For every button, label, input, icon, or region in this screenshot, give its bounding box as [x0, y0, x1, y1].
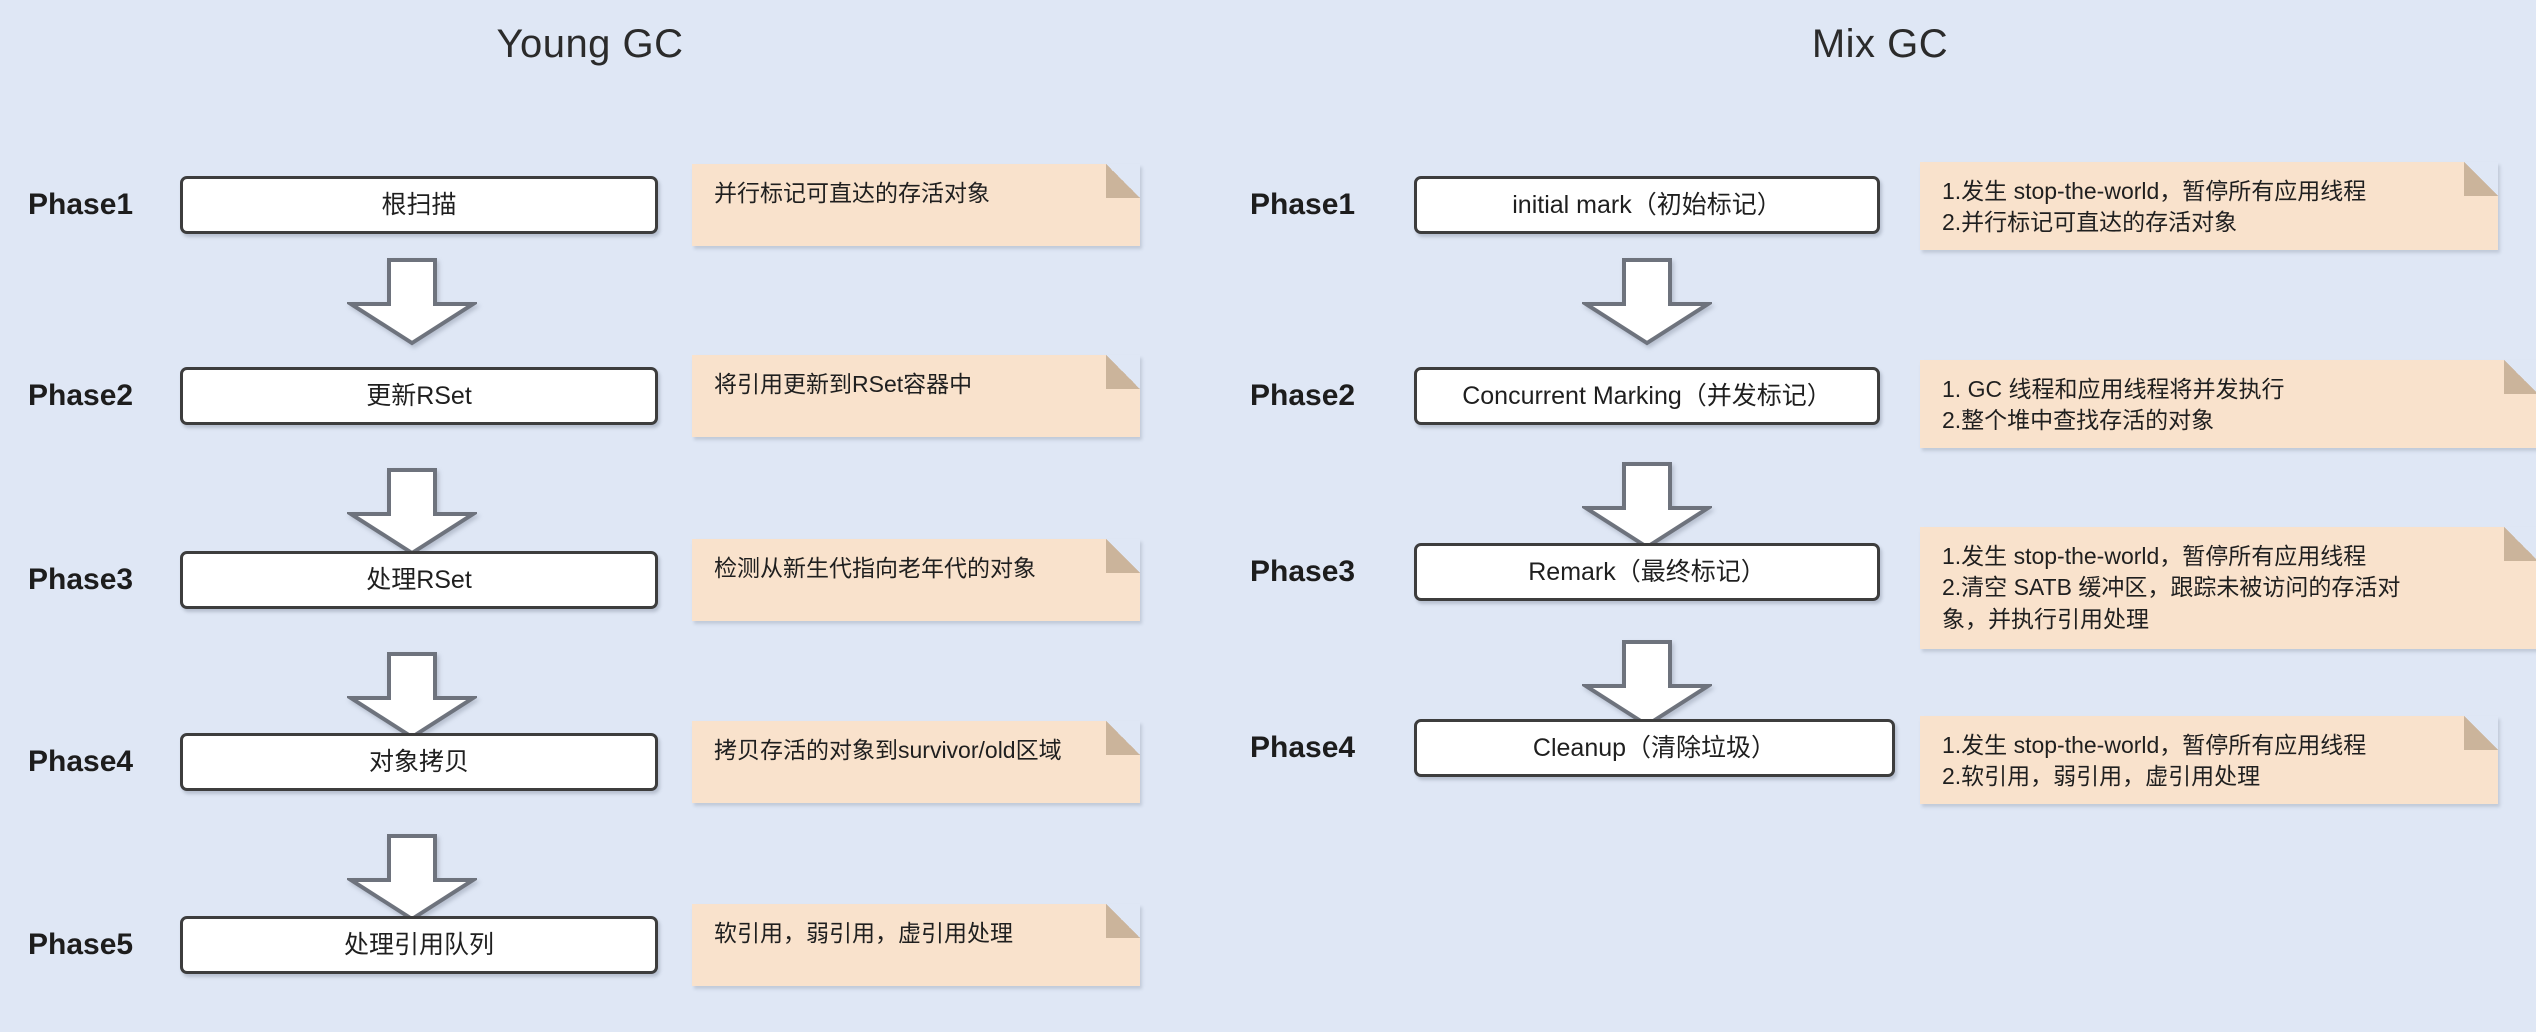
phase-label-mix-3: Phase3: [1250, 555, 1355, 589]
note-text: 将引用更新到RSet容器中: [714, 369, 1120, 400]
down-block-arrow-icon-mix-1: [1582, 258, 1712, 346]
process-box-label: Remark（最终标记）: [1528, 560, 1766, 585]
process-box-mix-3[interactable]: Remark（最终标记）: [1414, 543, 1880, 601]
process-box-young-3[interactable]: 处理RSet: [180, 551, 658, 609]
down-block-arrow-icon-young-2: [347, 468, 477, 556]
note-box-mix-2: 1. GC 线程和应用线程将并发执行 2.整个堆中查找存活的对象: [1920, 360, 2536, 448]
process-box-young-5[interactable]: 处理引用队列: [180, 916, 658, 974]
note-box-young-1: 并行标记可直达的存活对象: [692, 164, 1140, 246]
process-box-label: 处理RSet: [366, 568, 472, 593]
phase-label-young-4: Phase4: [28, 745, 133, 779]
note-box-mix-1: 1.发生 stop-the-world，暂停所有应用线程 2.并行标记可直达的存…: [1920, 162, 2498, 250]
process-box-label: 对象拷贝: [369, 750, 469, 775]
note-box-mix-4: 1.发生 stop-the-world，暂停所有应用线程 2.软引用，弱引用，虚…: [1920, 716, 2498, 804]
note-box-young-5: 软引用，弱引用，虚引用处理: [692, 904, 1140, 986]
note-text: 并行标记可直达的存活对象: [714, 178, 1120, 209]
process-box-label: initial mark（初始标记）: [1512, 193, 1781, 218]
process-box-label: 更新RSet: [366, 384, 472, 409]
note-text: 检测从新生代指向老年代的对象: [714, 553, 1120, 584]
process-box-label: 处理引用队列: [344, 933, 494, 958]
down-block-arrow-icon-young-1: [347, 258, 477, 346]
process-box-young-2[interactable]: 更新RSet: [180, 367, 658, 425]
process-box-mix-2[interactable]: Concurrent Marking（并发标记）: [1414, 367, 1880, 425]
note-box-young-3: 检测从新生代指向老年代的对象: [692, 539, 1140, 621]
note-text: 1.发生 stop-the-world，暂停所有应用线程 2.软引用，弱引用，虚…: [1942, 730, 2478, 793]
process-box-mix-1[interactable]: initial mark（初始标记）: [1414, 176, 1880, 234]
phase-label-young-3: Phase3: [28, 563, 133, 597]
phase-label-young-2: Phase2: [28, 379, 133, 413]
phase-label-young-5: Phase5: [28, 928, 133, 962]
note-box-young-4: 拷贝存活的对象到survivor/old区域: [692, 721, 1140, 803]
phase-label-young-1: Phase1: [28, 188, 133, 222]
process-box-young-1[interactable]: 根扫描: [180, 176, 658, 234]
note-box-mix-3: 1.发生 stop-the-world，暂停所有应用线程 2.清空 SATB 缓…: [1920, 527, 2536, 649]
process-box-label: Concurrent Marking（并发标记）: [1462, 384, 1832, 409]
down-block-arrow-icon-mix-2: [1582, 462, 1712, 550]
process-box-label: 根扫描: [381, 193, 456, 218]
phase-label-mix-1: Phase1: [1250, 188, 1355, 222]
process-box-young-4[interactable]: 对象拷贝: [180, 733, 658, 791]
note-text: 拷贝存活的对象到survivor/old区域: [714, 735, 1120, 766]
down-block-arrow-icon-young-4: [347, 834, 477, 922]
process-box-label: Cleanup（清除垃圾）: [1533, 736, 1776, 761]
phase-label-mix-2: Phase2: [1250, 379, 1355, 413]
column-title-mix-gc: Mix GC: [1290, 22, 2470, 67]
column-title-young-gc: Young GC: [0, 22, 1180, 67]
process-box-mix-4[interactable]: Cleanup（清除垃圾）: [1414, 719, 1895, 777]
note-text: 1.发生 stop-the-world，暂停所有应用线程 2.清空 SATB 缓…: [1942, 541, 2518, 635]
note-text: 软引用，弱引用，虚引用处理: [714, 918, 1120, 949]
phase-label-mix-4: Phase4: [1250, 731, 1355, 765]
note-text: 1.发生 stop-the-world，暂停所有应用线程 2.并行标记可直达的存…: [1942, 176, 2478, 239]
down-block-arrow-icon-young-3: [347, 652, 477, 740]
down-block-arrow-icon-mix-3: [1582, 640, 1712, 728]
note-text: 1. GC 线程和应用线程将并发执行 2.整个堆中查找存活的对象: [1942, 374, 2518, 437]
diagram-canvas: Young GC Mix GC Phase1 根扫描 并行标记可直达的存活对象 …: [0, 0, 2536, 1032]
note-box-young-2: 将引用更新到RSet容器中: [692, 355, 1140, 437]
